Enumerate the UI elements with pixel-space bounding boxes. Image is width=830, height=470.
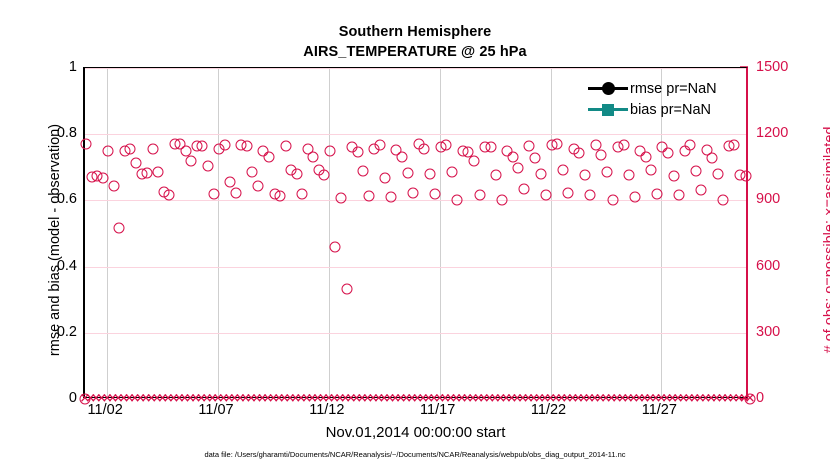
obs-possible-point: [729, 140, 740, 151]
obs-possible-point: [740, 171, 751, 182]
obs-possible-point: [618, 140, 629, 151]
y-right-tick-label-0: 0: [756, 390, 816, 406]
hgrid-line-5: [85, 68, 746, 69]
obs-possible-point: [557, 164, 568, 175]
legend-item-rmse[interactable]: rmse pr=NaN: [588, 78, 738, 99]
obs-possible-point: [280, 141, 291, 152]
obs-possible-point: [524, 141, 535, 152]
y-right-tick-label-2: 600: [756, 258, 816, 274]
obs-possible-point: [651, 188, 662, 199]
obs-possible-point: [646, 164, 657, 175]
obs-possible-point: [496, 195, 507, 206]
obs-possible-point: [275, 190, 286, 201]
legend-label-bias: bias pr=NaN: [630, 102, 711, 118]
obs-possible-point: [125, 143, 136, 154]
rmse-marker-icon: [588, 82, 628, 96]
obs-possible-point: [419, 143, 430, 154]
obs-possible-point: [336, 193, 347, 204]
obs-possible-point: [579, 170, 590, 181]
obs-possible-endpoint-0: [80, 394, 91, 405]
obs-possible-point: [574, 147, 585, 158]
obs-possible-point: [563, 187, 574, 198]
x-axis-label: Nov.01,2014 00:00:00 start: [83, 424, 748, 441]
obs-possible-point: [385, 192, 396, 203]
obs-possible-point: [142, 167, 153, 178]
obs-possible-point: [247, 166, 258, 177]
obs-possible-point: [252, 181, 263, 192]
obs-possible-point: [685, 140, 696, 151]
obs-possible-point: [263, 152, 274, 163]
hgrid-line-4: [85, 134, 746, 135]
obs-possible-point: [535, 168, 546, 179]
obs-possible-point: [474, 189, 485, 200]
obs-possible-point: [469, 155, 480, 166]
bias-marker-icon: [588, 103, 628, 117]
obs-possible-point: [208, 188, 219, 199]
y-left-tick-label-3: 0.6: [17, 191, 77, 207]
obs-possible-point: [696, 185, 707, 196]
obs-possible-point: [507, 152, 518, 163]
obs-possible-point: [324, 145, 335, 156]
obs-possible-point: [396, 152, 407, 163]
y-left-tick-label-1: 0.2: [17, 324, 77, 340]
data-file-footer: data file: /Users/gharamti/Documents/NCA…: [0, 450, 830, 459]
vgrid-line-4: [551, 68, 552, 397]
page-title-line2: AIRS_TEMPERATURE @ 25 hPa: [0, 44, 830, 60]
obs-possible-point: [164, 189, 175, 200]
legend-item-bias[interactable]: bias pr=NaN: [588, 99, 738, 120]
obs-possible-point: [585, 189, 596, 200]
legend: rmse pr=NaN bias pr=NaN: [588, 78, 738, 120]
vgrid-line-1: [218, 68, 219, 397]
obs-possible-point: [529, 153, 540, 164]
obs-possible-endpoint-1: [745, 394, 756, 405]
vgrid-line-3: [440, 68, 441, 397]
obs-possible-point: [485, 142, 496, 153]
obs-possible-point: [640, 152, 651, 163]
obs-possible-point: [114, 222, 125, 233]
obs-possible-point: [602, 166, 613, 177]
legend-label-rmse: rmse pr=NaN: [630, 81, 717, 97]
obs-possible-point: [596, 150, 607, 161]
hgrid-line-2: [85, 267, 746, 268]
y-left-tick-label-5: 1: [17, 59, 77, 75]
vgrid-line-0: [107, 68, 108, 397]
obs-possible-point: [380, 173, 391, 184]
obs-possible-point: [103, 145, 114, 156]
chart-page: Southern Hemisphere AIRS_TEMPERATURE @ 2…: [0, 0, 830, 470]
obs-possible-point: [541, 189, 552, 200]
obs-possible-point: [197, 141, 208, 152]
obs-possible-point: [297, 188, 308, 199]
obs-possible-point: [352, 146, 363, 157]
obs-possible-point: [441, 140, 452, 151]
obs-possible-point: [291, 168, 302, 179]
obs-possible-point: [408, 187, 419, 198]
obs-possible-point: [707, 153, 718, 164]
obs-possible-point: [452, 195, 463, 206]
obs-possible-point: [319, 170, 330, 181]
vgrid-line-2: [329, 68, 330, 397]
y-left-tick-label-2: 0.4: [17, 258, 77, 274]
obs-possible-point: [491, 170, 502, 181]
obs-possible-point: [624, 170, 635, 181]
obs-possible-point: [674, 189, 685, 200]
y-right-tick-label-5: 1500: [756, 59, 816, 75]
obs-possible-point: [308, 152, 319, 163]
obs-possible-point: [518, 184, 529, 195]
obs-possible-point: [330, 241, 341, 252]
obs-possible-point: [108, 181, 119, 192]
obs-possible-point: [607, 195, 618, 206]
obs-possible-point: [203, 161, 214, 172]
obs-possible-point: [153, 166, 164, 177]
obs-possible-point: [402, 167, 413, 178]
obs-possible-point: [147, 143, 158, 154]
obs-possible-point: [358, 165, 369, 176]
obs-possible-point: [712, 168, 723, 179]
obs-possible-point: [662, 147, 673, 158]
obs-possible-point: [97, 173, 108, 184]
page-title-line1: Southern Hemisphere: [0, 24, 830, 40]
obs-possible-point: [446, 166, 457, 177]
y-right-tick-label-1: 300: [756, 324, 816, 340]
obs-possible-point: [341, 283, 352, 294]
hgrid-line-1: [85, 333, 746, 334]
obs-possible-point: [363, 190, 374, 201]
y-right-tick-label-4: 1200: [756, 125, 816, 141]
obs-possible-point: [430, 188, 441, 199]
obs-possible-point: [513, 163, 524, 174]
obs-possible-point: [668, 171, 679, 182]
obs-possible-point: [424, 168, 435, 179]
obs-possible-point: [241, 141, 252, 152]
y-left-tick-label-4: 0.8: [17, 125, 77, 141]
obs-possible-point: [629, 192, 640, 203]
obs-possible-point: [374, 140, 385, 151]
obs-possible-point: [130, 157, 141, 168]
obs-possible-point: [552, 139, 563, 150]
y-right-tick-label-3: 900: [756, 191, 816, 207]
obs-possible-point: [225, 176, 236, 187]
obs-possible-point: [219, 140, 230, 151]
obs-possible-point: [186, 155, 197, 166]
y-axis-right-label: # of obs: o=possible; ×=assimilated: [822, 90, 830, 390]
y-left-tick-label-0: 0: [17, 390, 77, 406]
obs-possible-point: [230, 187, 241, 198]
obs-possible-point: [718, 195, 729, 206]
obs-possible-point: [81, 139, 92, 150]
hgrid-line-3: [85, 200, 746, 201]
obs-possible-point: [690, 165, 701, 176]
